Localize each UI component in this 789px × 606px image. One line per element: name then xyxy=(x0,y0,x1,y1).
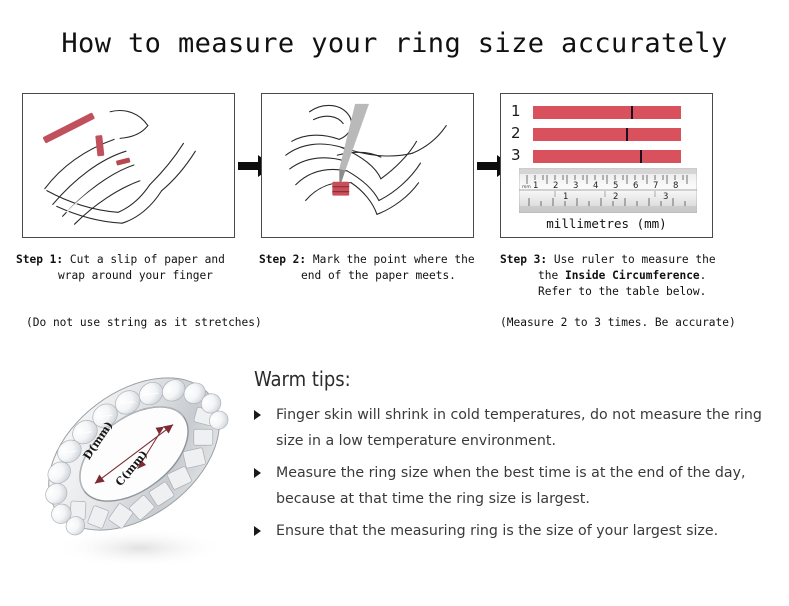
hand-with-paper-slip-illustration xyxy=(23,94,234,237)
step-2-line-1: Mark the point where the xyxy=(313,253,475,266)
paper-slip-on-finger xyxy=(332,182,349,196)
svg-text:mm: mm xyxy=(522,185,531,190)
strip-number: 3 xyxy=(511,146,521,164)
paper-slip-wrapped xyxy=(95,135,104,156)
triangle-bullet-icon xyxy=(254,526,261,536)
pen-tip xyxy=(339,169,345,183)
step-3-line-2-suffix: . xyxy=(700,269,707,282)
millimetres-unit-label: millimetres (mm) xyxy=(501,216,712,231)
page-title: How to measure your ring size accurately xyxy=(0,28,789,59)
strip-bar xyxy=(533,150,681,163)
paper-slip-red xyxy=(43,112,96,143)
strip-number: 2 xyxy=(511,124,521,142)
inside-circumference-emphasis: Inside Circumference xyxy=(565,269,700,282)
step-3-line-2-prefix: the xyxy=(538,269,565,282)
step-2-lead: Step 2: xyxy=(259,253,306,266)
warm-tip-item: Measure the ring size when the best time… xyxy=(254,460,774,512)
svg-text:2: 2 xyxy=(553,181,558,191)
step-1-note: (Do not use string as it stretches) xyxy=(26,316,262,329)
svg-text:5: 5 xyxy=(613,181,618,191)
svg-text:6: 6 xyxy=(633,181,638,191)
step-2-line-2: end of the paper meets. xyxy=(259,268,499,284)
paper-slip-tip xyxy=(116,157,131,165)
svg-text:2: 2 xyxy=(613,192,618,202)
warm-tip-text: Ensure that the measuring ring is the si… xyxy=(276,523,718,539)
warm-tip-item: Ensure that the measuring ring is the si… xyxy=(254,518,774,544)
step-3-lead: Step 3: xyxy=(500,253,547,266)
step-1-lead: Step 1: xyxy=(16,253,63,266)
triangle-bullet-icon xyxy=(254,468,261,478)
svg-text:3: 3 xyxy=(573,181,578,191)
triangle-bullet-icon xyxy=(254,410,261,420)
strip-mark xyxy=(626,128,628,141)
strip-mark xyxy=(631,106,633,119)
step-3-line-3: Refer to the table below. xyxy=(500,284,750,300)
step-1-caption: Step 1: Cut a slip of paper and wrap aro… xyxy=(16,252,256,284)
svg-text:8: 8 xyxy=(673,181,678,191)
warm-tips-heading: Warm tips: xyxy=(254,367,351,391)
step-3-line-1: Use ruler to measure the xyxy=(554,253,716,266)
step-2-image-panel xyxy=(261,93,474,238)
hand-marking-paper-with-pen-illustration xyxy=(262,94,473,237)
svg-text:1: 1 xyxy=(533,181,538,191)
step-2-caption: Step 2: Mark the point where the end of … xyxy=(259,252,499,284)
step-3-note: (Measure 2 to 3 times. Be accurate) xyxy=(500,316,736,329)
warm-tip-text: Finger skin will shrink in cold temperat… xyxy=(276,407,762,449)
strip-bar xyxy=(533,106,681,119)
step-3-caption: Step 3: Use ruler to measure the the Ins… xyxy=(500,252,750,300)
warm-tip-text: Measure the ring size when the best time… xyxy=(276,465,746,507)
warm-tips-list: Finger skin will shrink in cold temperat… xyxy=(254,402,774,550)
strip-number: 1 xyxy=(511,102,521,120)
step-1-line-2: wrap around your finger xyxy=(16,268,256,284)
ring-size-guide-page: How to measure your ring size accurately xyxy=(0,0,789,606)
step-1-line-1: Cut a slip of paper and xyxy=(70,253,225,266)
svg-text:7: 7 xyxy=(653,181,658,191)
strip-mark xyxy=(640,150,642,163)
ruler-illustration: 12 34 56 78 mm 123 xyxy=(519,168,697,213)
svg-text:1: 1 xyxy=(563,192,568,202)
strip-bar xyxy=(533,128,681,141)
svg-text:3: 3 xyxy=(663,192,668,202)
step-1-image-panel xyxy=(22,93,235,238)
warm-tip-item: Finger skin will shrink in cold temperat… xyxy=(254,402,774,454)
svg-text:4: 4 xyxy=(593,181,598,191)
step-3-image-panel: 1 2 3 xyxy=(500,93,713,238)
